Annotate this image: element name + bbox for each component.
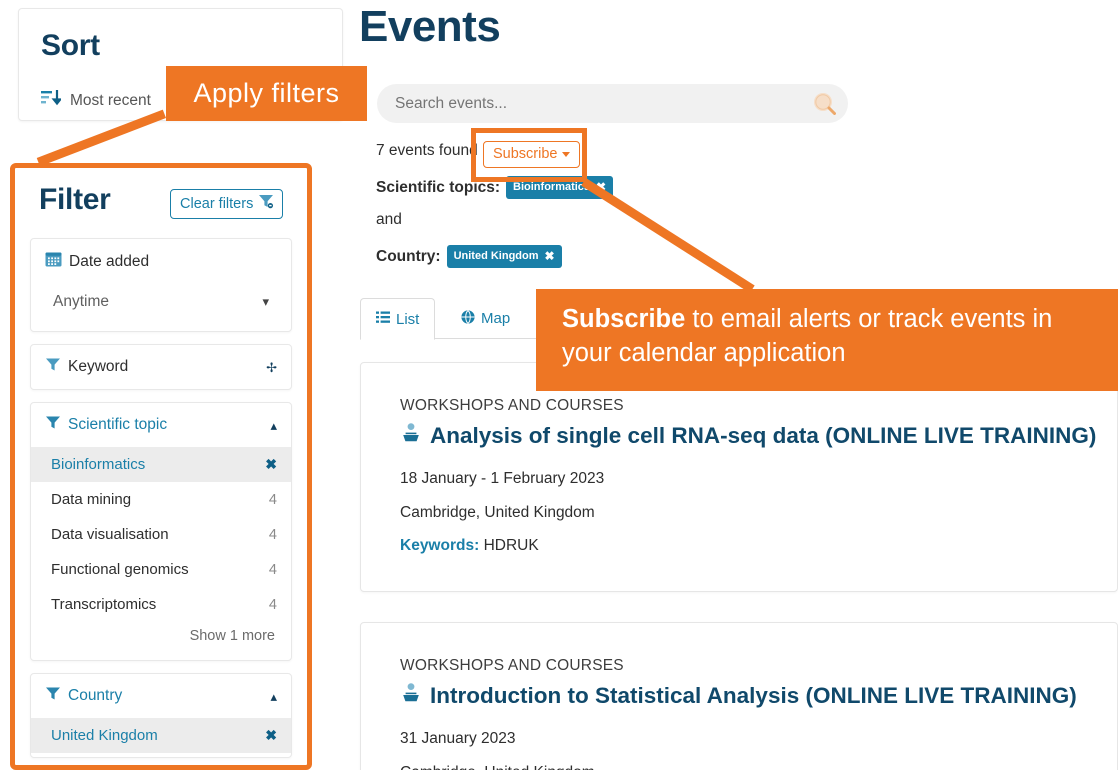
remove-icon[interactable]: ✖ xyxy=(545,249,555,263)
event-keywords-value: HDRUK xyxy=(484,537,539,554)
filter-section-keyword: Keyword ✢ xyxy=(30,344,292,390)
event-category: WORKSHOPS AND COURSES xyxy=(400,397,624,415)
applied-topic-tag-label: Bioinformatics xyxy=(513,181,590,193)
filter-header: Filter Clear filters xyxy=(15,168,307,238)
filter-section-header-scientific-topic[interactable]: Scientific topic ▴ xyxy=(31,403,291,447)
subscribe-button[interactable]: Subscribe xyxy=(483,141,580,168)
tab-map[interactable]: Map xyxy=(446,298,525,339)
event-location: Cambridge, United Kingdom xyxy=(400,764,595,770)
results-count: 7 events found xyxy=(376,142,478,160)
topic-label: Data visualisation xyxy=(51,526,169,543)
topic-count: 4 xyxy=(269,597,277,613)
list-item[interactable]: Data visualisation 4 xyxy=(31,517,291,552)
topic-count: 4 xyxy=(269,562,277,578)
filter-section-label-keyword: Keyword xyxy=(68,358,259,376)
event-date: 31 January 2023 xyxy=(400,730,515,748)
event-title-link[interactable]: Introduction to Statistical Analysis (ON… xyxy=(400,682,1077,709)
chevron-down-icon[interactable]: ✢ xyxy=(266,361,277,374)
event-card[interactable]: WORKSHOPS AND COURSES Analysis of single… xyxy=(360,362,1118,592)
annotation-apply-filters-label: Apply filters xyxy=(193,78,339,109)
topic-label: Functional genomics xyxy=(51,561,189,578)
event-category: WORKSHOPS AND COURSES xyxy=(400,657,624,675)
filter-icon xyxy=(45,686,61,706)
chalkboard-teacher-icon xyxy=(400,422,422,449)
annotation-connector-subscribe xyxy=(581,178,755,293)
event-date: 18 January - 1 February 2023 xyxy=(400,470,604,488)
event-location: Cambridge, United Kingdom xyxy=(400,504,595,522)
filter-section-label-country: Country xyxy=(68,687,263,705)
event-keywords-label: Keywords: xyxy=(400,537,479,554)
topic-label: Data mining xyxy=(51,491,131,508)
applied-country-tag[interactable]: United Kingdom ✖ xyxy=(447,245,562,268)
annotation-subscribe-bold: Subscribe xyxy=(562,305,685,333)
topic-count: 4 xyxy=(269,492,277,508)
filter-section-header-date-added[interactable]: Date added xyxy=(31,239,291,284)
tab-map-label: Map xyxy=(481,310,510,327)
topic-label: Transcriptomics xyxy=(51,596,156,613)
filter-title: Filter xyxy=(39,183,111,217)
remove-icon[interactable]: ✖ xyxy=(265,456,277,473)
tab-list[interactable]: List xyxy=(360,298,435,340)
show-more-topics-button[interactable]: Show 1 more xyxy=(31,622,291,656)
filter-section-label-date-added: Date added xyxy=(69,253,277,271)
annotation-subscribe-callout: Subscribe to email alerts or track event… xyxy=(536,289,1118,391)
list-icon xyxy=(376,311,390,328)
filter-clear-icon xyxy=(258,194,274,213)
topic-count: 4 xyxy=(269,527,277,543)
sort-amount-down-icon xyxy=(41,89,61,112)
annotation-apply-filters-callout: Apply filters xyxy=(166,66,367,121)
chevron-up-icon[interactable]: ▴ xyxy=(270,690,277,703)
filter-section-header-country[interactable]: Country ▴ xyxy=(31,674,291,718)
chevron-up-icon[interactable]: ▴ xyxy=(270,419,277,432)
country-list: United Kingdom ✖ xyxy=(31,718,291,757)
country-label: United Kingdom xyxy=(51,727,158,744)
applied-conjunction: and xyxy=(376,211,402,229)
search-bar xyxy=(377,84,848,123)
remove-icon[interactable]: ✖ xyxy=(265,727,277,744)
applied-country-tag-label: United Kingdom xyxy=(454,250,539,262)
calendar-icon xyxy=(45,251,62,272)
filter-section-label-scientific-topic: Scientific topic xyxy=(68,416,263,434)
clear-filters-label: Clear filters xyxy=(180,196,253,212)
filter-section-date-added: Date added Anytime ▾ xyxy=(30,238,292,332)
chalkboard-teacher-icon xyxy=(400,682,422,709)
filter-section-country: Country ▴ United Kingdom ✖ xyxy=(30,673,292,758)
subscribe-button-label: Subscribe xyxy=(493,146,557,162)
applied-country-row: Country: United Kingdom ✖ xyxy=(376,245,562,268)
filter-section-scientific-topic: Scientific topic ▴ Bioinformatics ✖ Data… xyxy=(30,402,292,661)
event-title: Analysis of single cell RNA-seq data (ON… xyxy=(430,423,1096,449)
chevron-down-icon: ▾ xyxy=(262,294,269,310)
date-added-selected-value: Anytime xyxy=(53,293,109,311)
topic-label: Bioinformatics xyxy=(51,456,145,473)
filter-section-header-keyword[interactable]: Keyword ✢ xyxy=(31,345,291,389)
scientific-topic-list: Bioinformatics ✖ Data mining 4 Data visu… xyxy=(31,447,291,660)
applied-country-label: Country: xyxy=(376,248,441,266)
event-keywords: Keywords: HDRUK xyxy=(400,537,539,555)
list-item[interactable]: United Kingdom ✖ xyxy=(31,718,291,753)
list-item[interactable]: Transcriptomics 4 xyxy=(31,587,291,622)
globe-icon xyxy=(461,310,475,328)
list-item[interactable]: Bioinformatics ✖ xyxy=(31,447,291,482)
list-item[interactable]: Data mining 4 xyxy=(31,482,291,517)
tab-list-label: List xyxy=(396,311,419,328)
clear-filters-button[interactable]: Clear filters xyxy=(170,189,283,219)
search-input[interactable] xyxy=(393,84,793,123)
filter-icon xyxy=(45,415,61,435)
date-added-select[interactable]: Anytime ▾ xyxy=(45,286,277,319)
sort-control[interactable]: Most recent xyxy=(41,89,151,112)
filter-panel: Filter Clear filters xyxy=(10,163,312,770)
caret-down-icon xyxy=(562,152,570,157)
list-item[interactable]: Functional genomics 4 xyxy=(31,552,291,587)
sort-title: Sort xyxy=(41,29,100,63)
event-title-link[interactable]: Analysis of single cell RNA-seq data (ON… xyxy=(400,422,1096,449)
search-icon[interactable] xyxy=(813,92,836,115)
filter-icon xyxy=(45,357,61,377)
sort-value: Most recent xyxy=(70,92,151,110)
event-title: Introduction to Statistical Analysis (ON… xyxy=(430,683,1077,709)
event-card[interactable]: WORKSHOPS AND COURSES Introduction to St… xyxy=(360,622,1118,770)
page-title: Events xyxy=(359,2,500,52)
